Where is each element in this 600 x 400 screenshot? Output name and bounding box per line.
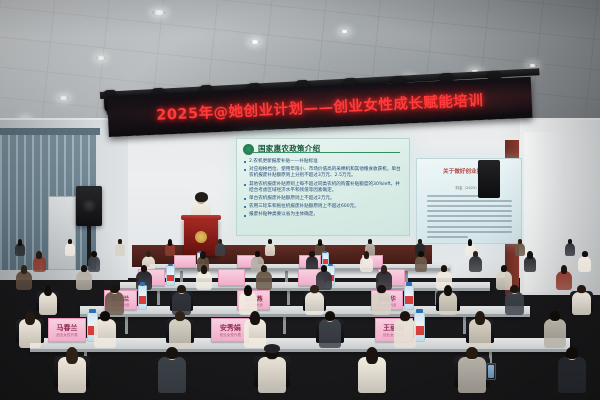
attendee-hair [444, 285, 452, 296]
table-edge [80, 314, 530, 317]
attendee-hair [218, 239, 223, 243]
attendee-hair [577, 285, 585, 293]
attendee-torso [115, 243, 125, 256]
blinds-headrail [0, 128, 100, 135]
attendee-torso [544, 319, 567, 348]
table-leg [285, 271, 288, 282]
attendee-hair [366, 347, 379, 364]
attendee-hair [418, 239, 423, 243]
bottle-label [139, 296, 147, 304]
table-leg [287, 291, 290, 305]
attendee-hair [518, 239, 523, 243]
bottle-label [415, 326, 424, 335]
attendee-hair [146, 251, 152, 256]
attendee-torso [65, 243, 75, 256]
attendee-hair [501, 265, 508, 272]
document-text-line [427, 200, 512, 202]
attendee-hair [321, 265, 328, 272]
attendee-hair [25, 311, 35, 325]
attendee-hair [66, 347, 79, 364]
bottle-cap [328, 264, 333, 266]
slide-bullet: 单台农机报废补贴额原则上不超过2万元。 [244, 196, 402, 202]
attendee-hair [418, 251, 424, 256]
attendee-hair [118, 239, 123, 243]
table-leg [180, 271, 183, 282]
attendee-hair [81, 265, 88, 272]
attendee-torso [394, 319, 417, 348]
document-text-line [427, 220, 512, 222]
bottle-label [167, 275, 174, 281]
attendee-hair [527, 251, 533, 259]
attendee-hair [510, 285, 518, 293]
attendee-torso [88, 256, 100, 272]
attendee-hair [91, 251, 97, 256]
attendee-hair [261, 265, 268, 272]
slide-bullet: 2.农机更新报废补贴——补贴标准 [244, 159, 402, 165]
attendee-hair [244, 285, 252, 296]
attendee-hair [310, 285, 318, 293]
attendee-hair [250, 311, 260, 325]
attendee-torso [515, 243, 525, 256]
pa-speaker-left [76, 186, 102, 226]
attendee-hair [177, 285, 185, 293]
name-placard [218, 269, 245, 286]
attendee-hair [368, 239, 373, 243]
placard-subtitle: 创业女性代表 [212, 333, 248, 338]
bottle-cap [140, 282, 146, 285]
attendee-torso [215, 243, 225, 256]
attendee-hair [566, 347, 579, 360]
attendee-hair [475, 311, 485, 325]
document-text-line [427, 195, 480, 197]
ceiling-downlight [96, 56, 106, 60]
attendee-torso [76, 271, 91, 290]
slide-bullet-list: 2.农机更新报废补贴——补贴标准对应规格档位、使用年限小、市场价值高的采棉机和其… [244, 159, 402, 221]
attendee-torso [265, 243, 275, 256]
attendee-hair [309, 251, 315, 256]
attendee-torso [415, 256, 427, 272]
side-projection-screen: 关于做好创业担保贷款 财金〔2025〕号 [416, 158, 522, 244]
ministry-emblem-icon [243, 144, 254, 155]
placard-name: 马春兰 [49, 323, 85, 333]
attendee-hair [200, 251, 206, 259]
attendee-hair [468, 239, 473, 245]
slide-bullet: 农用三轮车和拖拉机报废补贴额原则上不超过600元。 [244, 204, 402, 210]
bottle-cap [89, 309, 96, 313]
bottle-cap [168, 264, 173, 266]
attendee-torso [558, 357, 587, 393]
slide-bullet: 报废补贴种类要以省为主体确定。 [244, 212, 402, 218]
slide-bullet: 其他农机报废补贴原则上每不超过同类农机的购置补贴额度的30%left，并结合考虑… [244, 182, 402, 194]
attendee-torso [565, 243, 575, 256]
presenter-hair [195, 192, 208, 202]
placard-subtitle: 创业女性代表 [49, 333, 85, 338]
attendee-torso [458, 357, 487, 393]
name-placard: 马春兰创业女性代表 [48, 318, 86, 342]
attendee-hair [318, 239, 323, 245]
attendee-hair [141, 265, 148, 272]
slide-title-rule [252, 152, 400, 153]
table-leg [283, 317, 286, 334]
table-leg [125, 317, 128, 334]
attendee-hair [550, 311, 560, 321]
attendee-torso [372, 292, 391, 315]
conference-hall-photo: 2025年@她创业计划——创业女性成长赋能培训 国家惠农政策介绍 2.农机更新报… [0, 0, 600, 400]
attendee-torso [258, 357, 287, 393]
podium-top [181, 215, 221, 220]
main-projection-screen: 国家惠农政策介绍 2.农机更新报废补贴——补贴标准对应规格档位、使用年限小、市场… [236, 138, 410, 236]
attendee-torso [496, 271, 511, 290]
bottle-label [323, 259, 328, 264]
attendee-hair [175, 311, 185, 321]
attendee-hair [110, 285, 118, 293]
water-bottle [166, 265, 175, 286]
attendee-hair [268, 239, 273, 243]
water-bottle [138, 285, 148, 311]
beret-hat [264, 344, 280, 353]
document-text-line [427, 215, 512, 217]
smartphone[interactable] [486, 363, 496, 379]
attendee-torso [572, 292, 591, 315]
attendee-hair [400, 311, 410, 321]
attendee-hair [166, 347, 179, 360]
table-edge [30, 349, 570, 352]
attendee-torso [256, 271, 271, 290]
document-text-line [427, 205, 512, 207]
attendee-hair [168, 239, 173, 245]
ceiling-downlight [528, 64, 537, 67]
ceiling-downlight [152, 10, 166, 15]
document-text-line [427, 210, 512, 212]
bottle-cap [416, 309, 423, 313]
attendee-hair [466, 347, 479, 360]
attendee-hair [441, 265, 448, 272]
attendee-hair [325, 311, 335, 321]
table-leg [157, 291, 160, 305]
attendee-torso [319, 319, 342, 348]
slide-bullet: 对应规格档位、使用年限小、市场价值高的采棉机和其他粮食收获机，单台农机报废补贴额… [244, 167, 402, 179]
attendee-torso [169, 319, 192, 348]
bottle-cap [323, 251, 327, 253]
attendee-hair [36, 251, 42, 259]
bottle-label [405, 296, 413, 304]
attendee-hair [582, 251, 588, 256]
water-bottle [404, 285, 414, 311]
attendee-torso [578, 256, 590, 272]
placard-name: 安秀娟 [212, 323, 248, 333]
ceiling-downlight [58, 96, 69, 100]
attendee-hair [100, 311, 110, 321]
document-text-line [427, 231, 512, 233]
attendee-hair [255, 251, 261, 256]
ceiling-downlight [340, 30, 349, 33]
attendee-torso [305, 292, 324, 315]
table-leg [405, 271, 408, 282]
side-slide-body-lines [427, 195, 512, 241]
attendee-hair [473, 251, 479, 256]
attendee-hair [18, 239, 23, 245]
attendee-torso [505, 292, 524, 315]
attendee-hair [377, 285, 385, 293]
name-placard [174, 255, 196, 268]
attendee-hair [364, 251, 370, 259]
attendee-hair [568, 239, 573, 243]
attendee-hair [68, 239, 73, 243]
attendee-torso [94, 319, 117, 348]
attendee-torso [158, 357, 187, 393]
attendee-hair [44, 285, 52, 296]
pa-speaker-right [478, 160, 500, 198]
attendee-torso [469, 256, 481, 272]
audience-area: 周玉兰创业女性代表吴晓燕创业女性代表郑丽华创业女性代表马春兰创业女性代表安秀娟创… [0, 236, 600, 400]
ceiling-downlight [250, 40, 260, 44]
document-text-line [427, 226, 512, 228]
bottle-cap [406, 282, 412, 285]
slide-title-bar: 国家惠农政策介绍 [242, 143, 404, 156]
